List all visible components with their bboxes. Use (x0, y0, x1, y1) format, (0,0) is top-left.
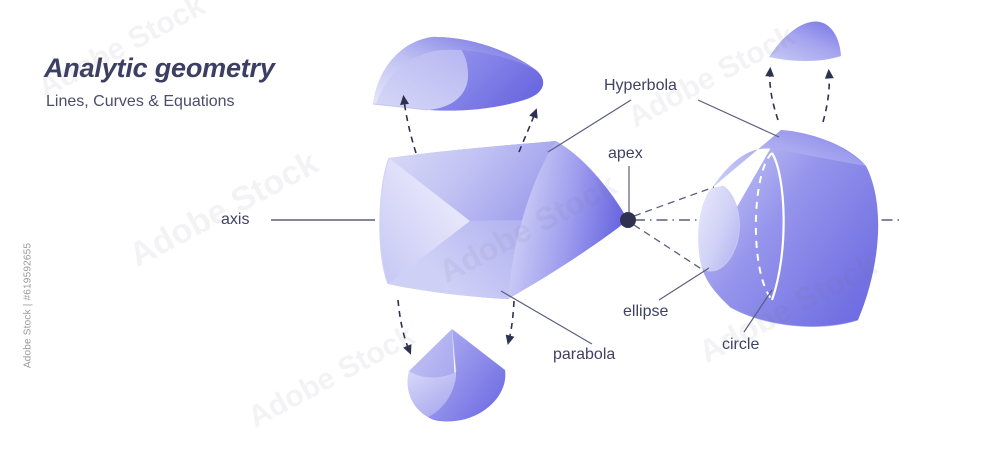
label-hyperbola: Hyperbola (604, 78, 677, 94)
page-title: Analytic geometry (44, 54, 374, 84)
apex-ray-lower (634, 225, 703, 270)
arrow-ellipse-cap-right (823, 74, 829, 122)
hyperbola-cap-piece (373, 37, 543, 111)
left-cone-group (380, 141, 628, 299)
leader-parabola (501, 291, 592, 344)
right-cone-group (698, 130, 878, 326)
leader-ellipse (659, 268, 709, 300)
label-apex: apex (608, 146, 643, 162)
page-subtitle: Lines, Curves & Equations (46, 93, 374, 111)
parabola-cap-piece (408, 329, 506, 421)
label-circle: circle (722, 337, 759, 353)
ellipse-cap-piece (769, 22, 841, 61)
apex-dot (620, 212, 636, 228)
label-parabola: parabola (553, 347, 615, 363)
arrow-parabola-left (398, 300, 409, 350)
arrow-ellipse-cap-left (770, 72, 778, 120)
illustration-canvas: Analytic geometry Lines, Curves & Equati… (0, 0, 1000, 450)
title-block: Analytic geometry Lines, Curves & Equati… (44, 54, 374, 110)
label-ellipse: ellipse (623, 304, 668, 320)
label-axis: axis (221, 212, 249, 228)
leader-hyperbola-right (698, 100, 779, 137)
ellipse-cap-body (769, 22, 841, 61)
arrow-parabola-right (509, 301, 514, 340)
